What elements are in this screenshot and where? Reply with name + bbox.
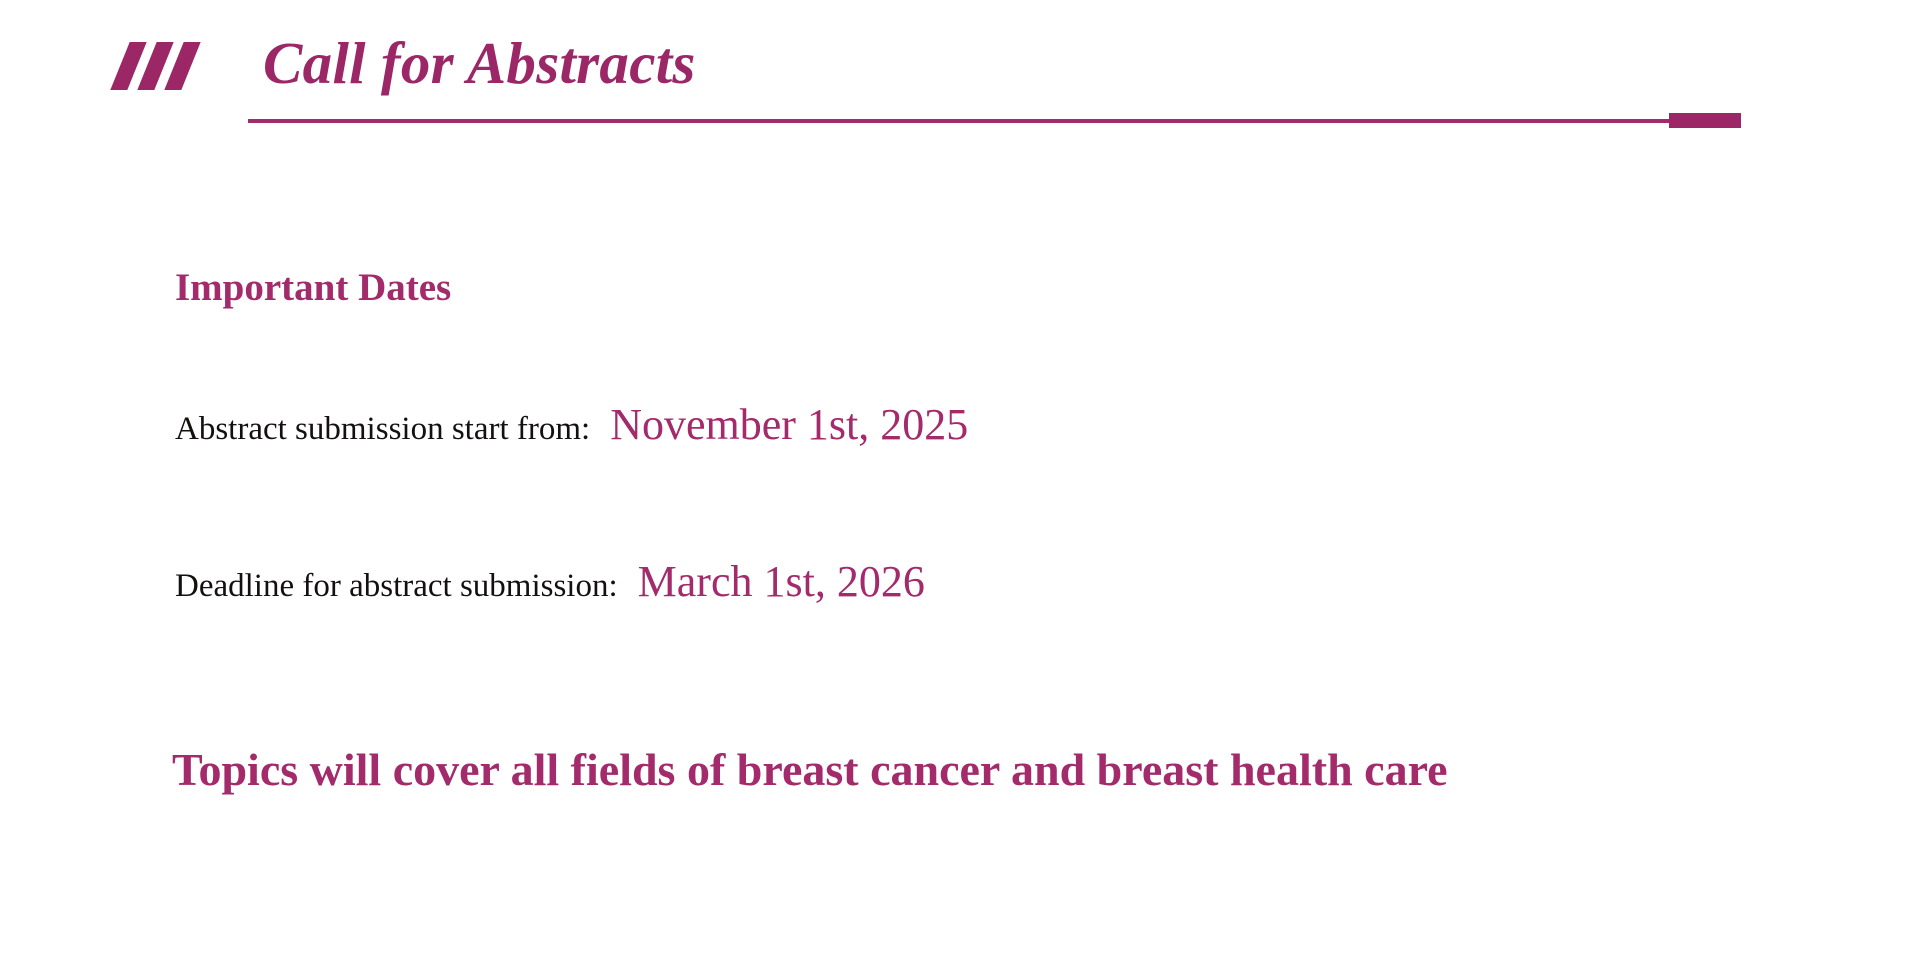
topics-note: Topics will cover all fields of breast c…	[172, 742, 1448, 798]
title-underline-end-cap	[1669, 113, 1741, 128]
page-title: Call for Abstracts	[263, 28, 696, 98]
title-underline-rule	[248, 119, 1670, 123]
date-row: Deadline for abstract submission: March …	[175, 562, 925, 606]
slide-header: Call for Abstracts	[0, 0, 1920, 150]
date-row: Abstract submission start from: November…	[175, 405, 968, 449]
date-value: November 1st, 2025	[610, 405, 968, 445]
date-label: Abstract submission start from:	[175, 409, 590, 449]
triple-slash-icon	[118, 42, 200, 90]
slide-canvas: Call for Abstracts Important Dates Abstr…	[0, 0, 1920, 955]
date-value: March 1st, 2026	[638, 562, 925, 602]
section-heading-important-dates: Important Dates	[175, 265, 451, 311]
date-label: Deadline for abstract submission:	[175, 566, 618, 606]
slide-body: Important Dates Abstract submission star…	[0, 150, 1920, 955]
